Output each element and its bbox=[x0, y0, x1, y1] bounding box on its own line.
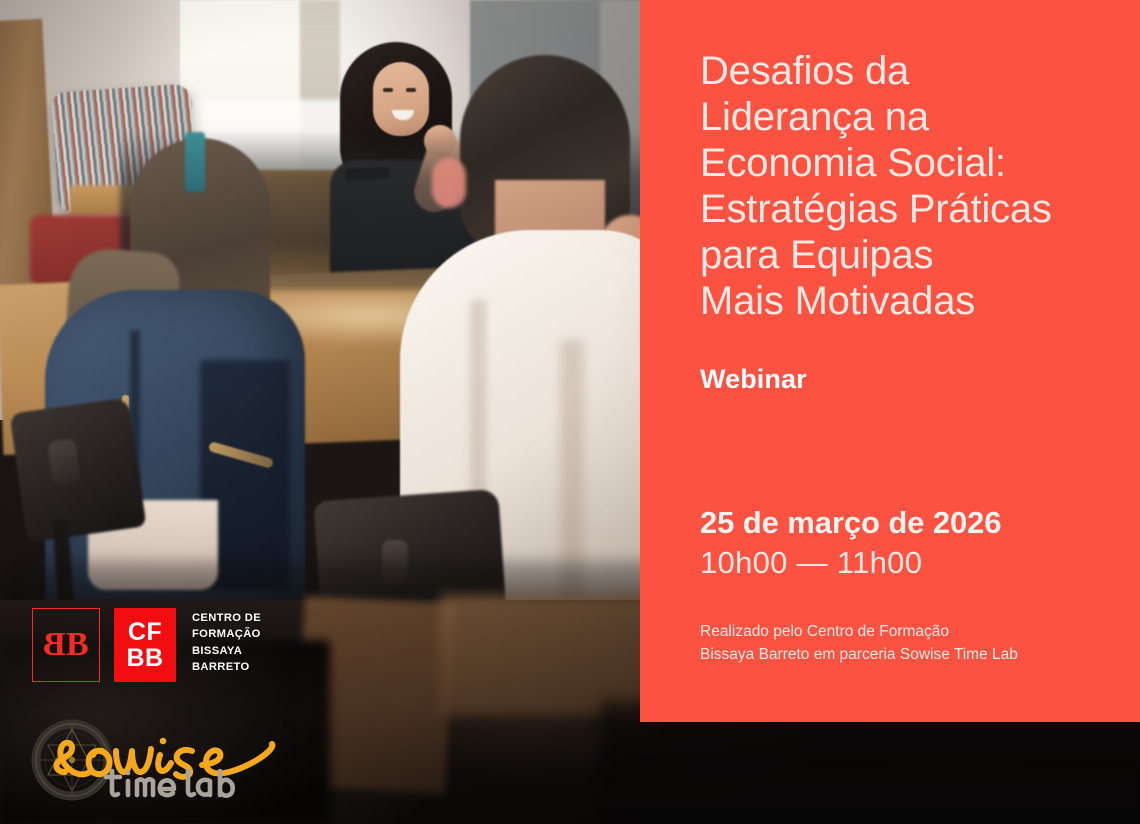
cfbb-full-name: CENTRO DE FORMAÇÃO BISSAYA BARRETO bbox=[192, 608, 261, 676]
bb-monogram-right-letter: B bbox=[66, 628, 82, 662]
accent-panel: Desafios da Liderança na Economia Social… bbox=[640, 0, 1140, 722]
compass-emblem-icon bbox=[36, 724, 108, 796]
logo-lockup: BB CF BB CENTRO DE FORMAÇÃO BISSAYA BARR… bbox=[32, 608, 261, 682]
event-date: 25 de março de 2026 bbox=[700, 505, 1001, 541]
bb-monogram-logo: BB bbox=[32, 608, 100, 682]
webinar-poster: Desafios da Liderança na Economia Social… bbox=[0, 0, 1140, 824]
sowise-time-lab-logo bbox=[24, 715, 304, 805]
cfbb-line-2: BB bbox=[126, 645, 163, 671]
event-datetime: 25 de março de 2026 10h00 — 11h00 bbox=[700, 505, 1001, 581]
cfbb-line-1: CF bbox=[128, 619, 162, 645]
organizer-credits: Realizado pelo Centro de Formação Bissay… bbox=[700, 620, 1018, 666]
format-label: Webinar bbox=[700, 364, 1100, 395]
event-time: 10h00 — 11h00 bbox=[700, 545, 1001, 581]
sowise-wordmark bbox=[56, 738, 272, 777]
page-title: Desafios da Liderança na Economia Social… bbox=[700, 48, 1100, 324]
cfbb-logo-box: CF BB bbox=[114, 608, 176, 682]
bb-monogram-left-letter: B bbox=[50, 628, 66, 662]
